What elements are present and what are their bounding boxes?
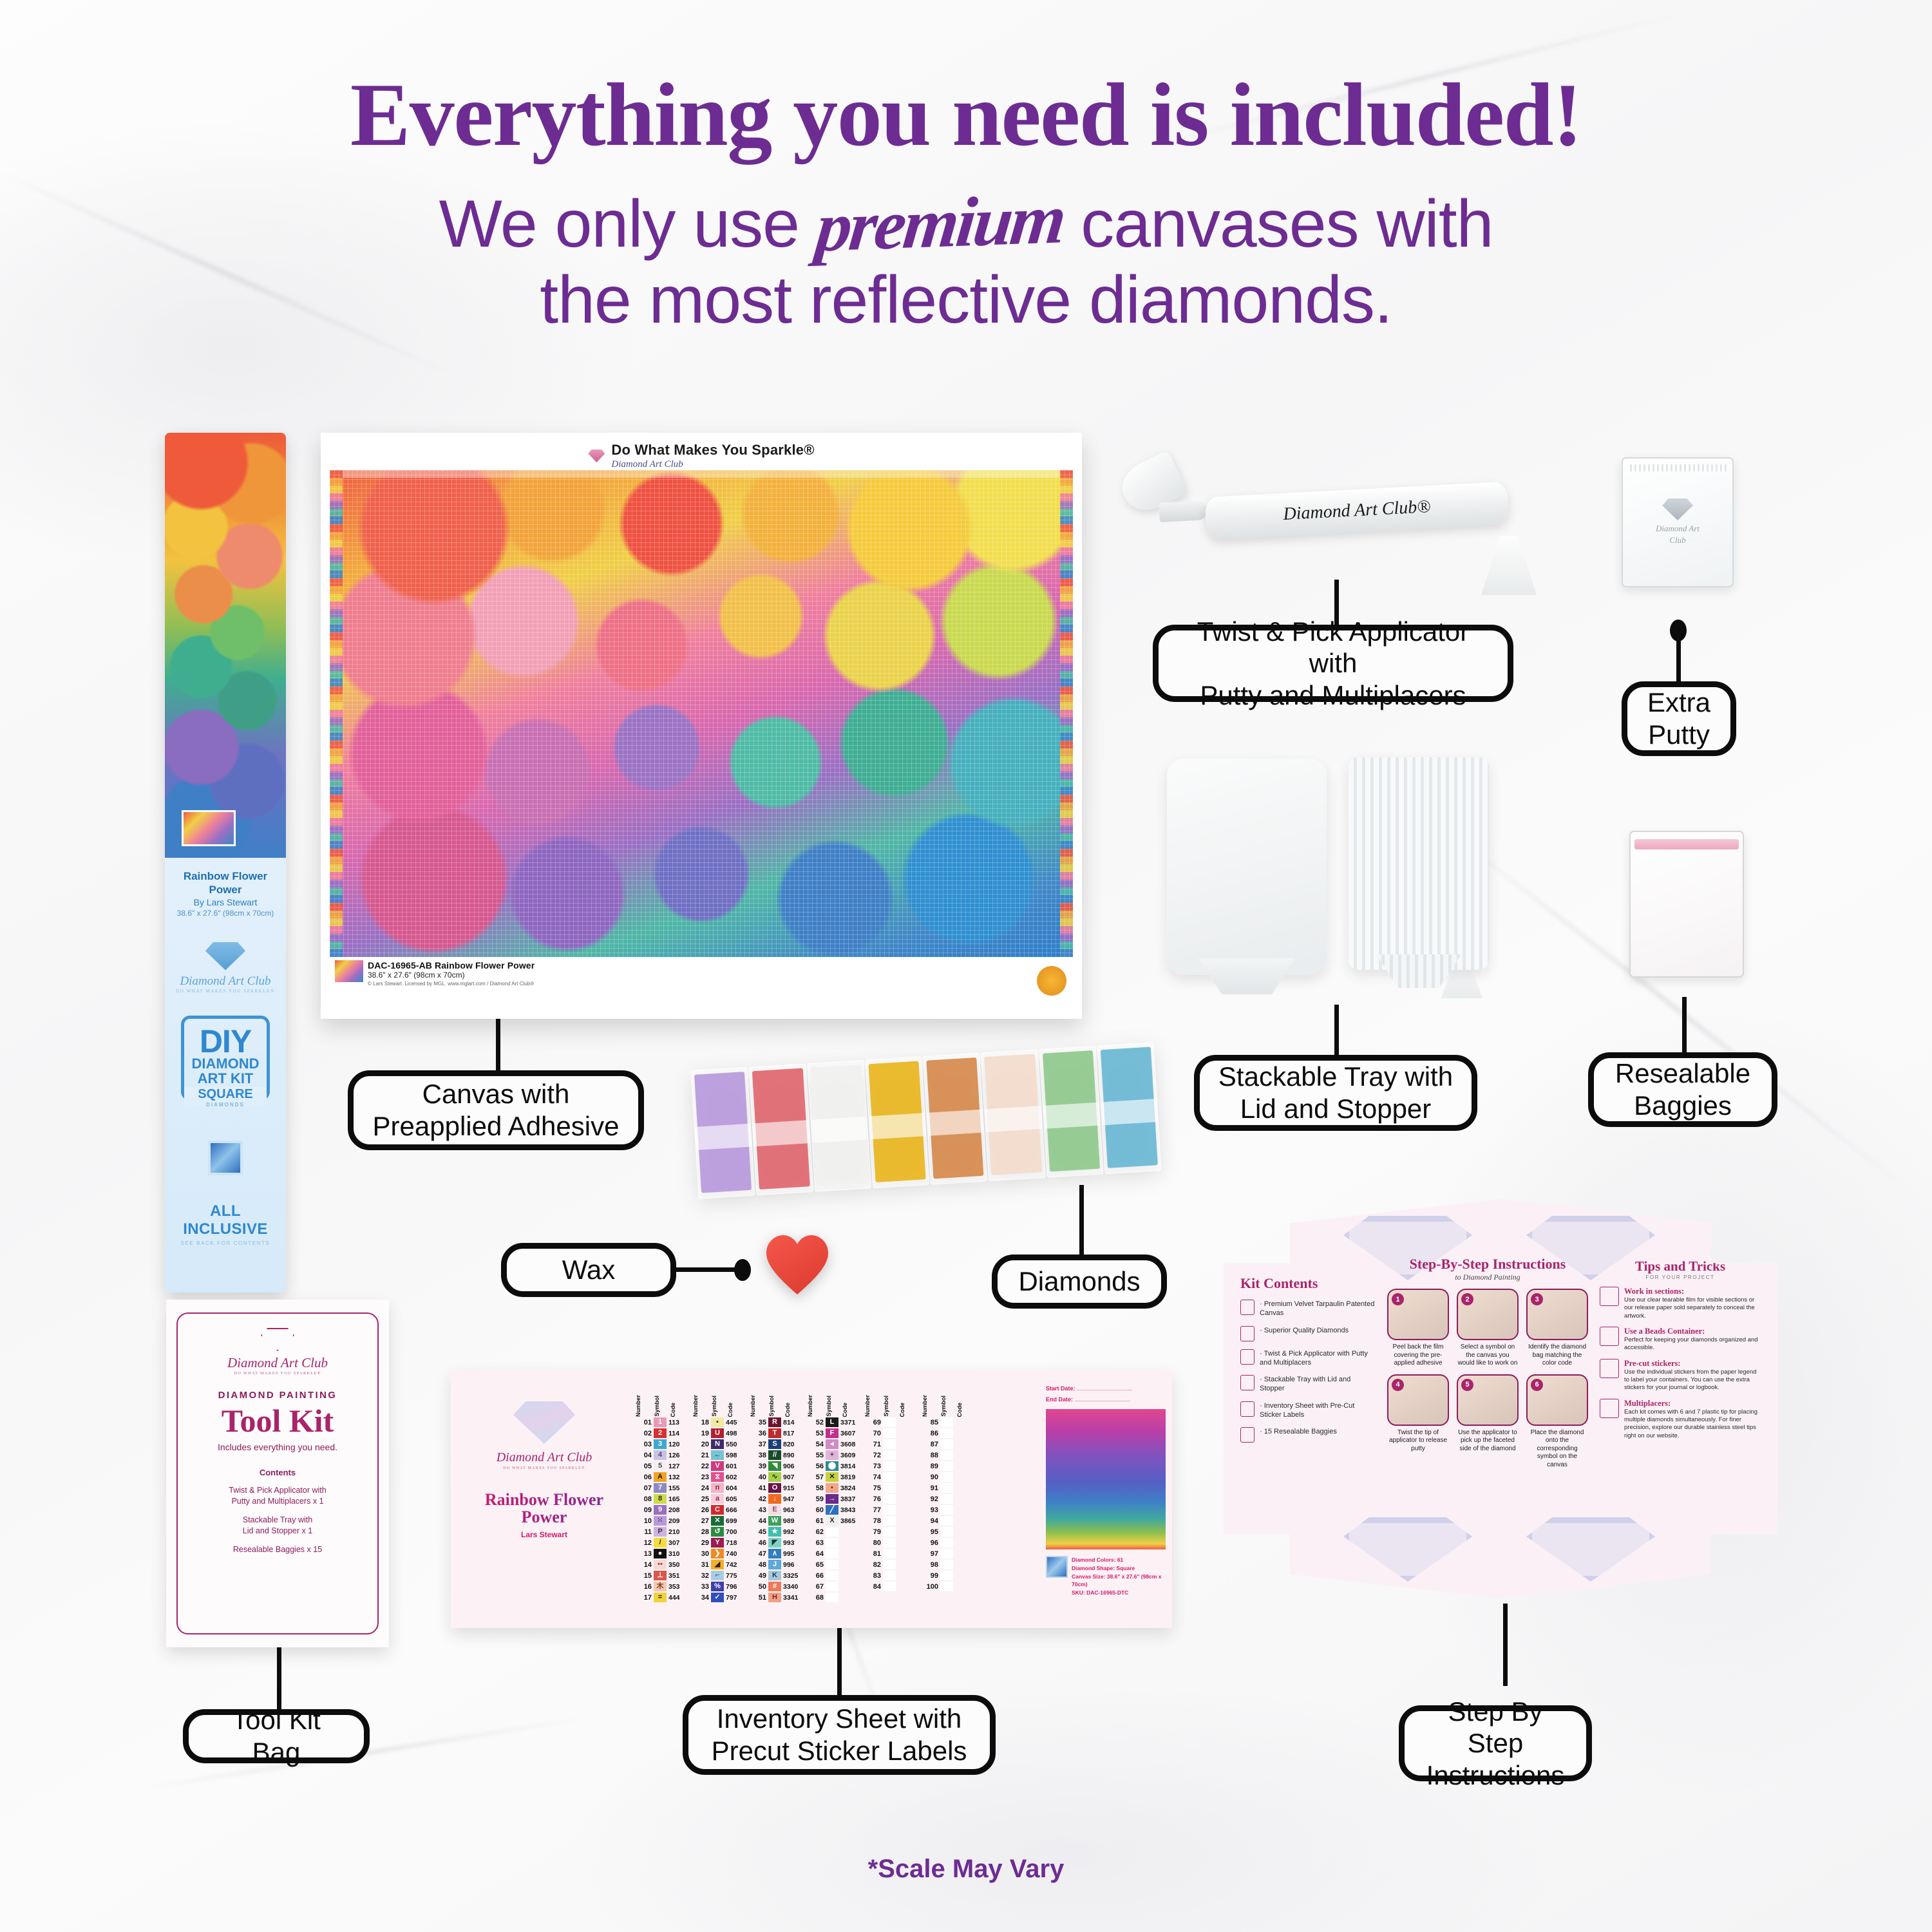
row-number: 67 (807, 1583, 824, 1591)
row-code: 351 (668, 1572, 688, 1580)
inventory-row: 90 (922, 1472, 976, 1482)
row-symbol-swatch (883, 1417, 896, 1427)
row-number: 17 (635, 1594, 652, 1602)
callout-applicator[interactable]: Twist & Pick Applicator with Putty and M… (1153, 625, 1513, 702)
row-symbol-swatch (826, 1582, 838, 1591)
inventory-row: 56⬤3814 (807, 1461, 861, 1472)
callout-wax[interactable]: Wax (501, 1243, 676, 1297)
inventory-row: 47∧995 (750, 1548, 804, 1559)
column-header-symbol: Symbol (768, 1396, 782, 1417)
inventory-title: Rainbow Flower Power (457, 1491, 631, 1526)
inventory-row: 83 (864, 1570, 918, 1581)
inventory-row: 13●310 (635, 1548, 689, 1559)
row-symbol-swatch (826, 1560, 838, 1569)
row-number: 01 (635, 1419, 652, 1426)
kit-contents-item: · Stackable Tray with Lid and Stopper (1240, 1375, 1376, 1394)
canvas-footer-label: DAC-16965-AB Rainbow Flower Power 38.6" … (330, 957, 1073, 999)
column-header-code: Code (899, 1403, 918, 1417)
callout-toolkit[interactable]: Tool Kit Bag (183, 1709, 370, 1763)
row-number: 46 (750, 1539, 766, 1547)
step-photo: 3 (1526, 1289, 1588, 1340)
inventory-meta: Diamond Colors: 61 Diamond Shape: Square… (1046, 1556, 1166, 1597)
inventory-cover: Diamond Art ClubDO WHAT MAKES YOU SPARKL… (457, 1379, 631, 1619)
diamond-label: DIAMOND (187, 1056, 264, 1071)
diamond-icon (205, 942, 245, 971)
column-header-symbol: Symbol (654, 1396, 668, 1417)
row-number: 13 (635, 1550, 652, 1558)
inventory-legend-table: NumberSymbolCode011113022114033120044126… (635, 1379, 1042, 1619)
row-code: 3865 (840, 1517, 860, 1525)
inventory-row: 12/307 (635, 1537, 689, 1548)
row-code: 3607 (840, 1430, 860, 1437)
callout-diamonds[interactable]: Diamonds (992, 1255, 1167, 1309)
row-symbol-swatch: 1 (654, 1417, 667, 1427)
inventory-row: 58▪3824 (807, 1482, 861, 1493)
row-symbol-swatch: ╱ (826, 1505, 838, 1515)
row-symbol-swatch (940, 1450, 953, 1460)
inventory-row: 53F3607 (807, 1428, 861, 1439)
inventory-row: 50#3340 (750, 1581, 804, 1592)
row-symbol-swatch: / (654, 1538, 667, 1548)
row-number: 75 (864, 1484, 881, 1492)
leader-dot-wax (734, 1259, 751, 1281)
row-code: 602 (726, 1473, 745, 1481)
row-code: 699 (726, 1517, 745, 1525)
step-caption: Identify the diamond bag matching the co… (1526, 1343, 1588, 1368)
leader-line-extra-putty (1676, 630, 1681, 681)
row-number: 100 (922, 1583, 938, 1591)
row-number: 93 (922, 1506, 938, 1514)
row-code: 310 (668, 1550, 688, 1558)
end-date-field[interactable]: End Date: (1046, 1394, 1166, 1405)
row-symbol-swatch: ❯ (711, 1549, 724, 1558)
row-code: 907 (783, 1473, 802, 1481)
inventory-row: 23⧖602 (692, 1472, 746, 1482)
row-number: 80 (864, 1539, 881, 1547)
inventory-row: 20N550 (692, 1439, 746, 1450)
inventory-row: 88 (922, 1450, 976, 1461)
row-code: 113 (668, 1419, 688, 1426)
row-code: 132 (668, 1473, 688, 1481)
inventory-column-headers: NumberSymbolCode (807, 1383, 861, 1417)
inventory-column: NumberSymbolCode011113022114033120044126… (635, 1383, 689, 1619)
tip-item: Multiplacers:Each kit comes with 6 and 7… (1600, 1399, 1761, 1440)
inventory-artist: Lars Stewart (457, 1530, 631, 1539)
row-symbol-swatch (883, 1505, 896, 1515)
row-number: 69 (864, 1419, 881, 1426)
row-number: 14 (635, 1561, 652, 1569)
row-number: 92 (922, 1495, 938, 1503)
row-symbol-swatch: % (711, 1582, 724, 1591)
square-diamond-swatch (208, 1141, 243, 1175)
row-symbol-swatch (940, 1560, 953, 1569)
column-header-number: Number (922, 1395, 938, 1417)
step-number-badge: 5 (1461, 1379, 1473, 1391)
row-symbol-swatch (940, 1461, 953, 1471)
row-number: 19 (692, 1430, 709, 1437)
kit-item-icon (1240, 1401, 1255, 1417)
row-symbol-swatch: ◤ (768, 1538, 781, 1548)
inventory-row: 40∿907 (750, 1472, 804, 1482)
tip-icon (1600, 1287, 1619, 1306)
callout-inventory[interactable]: Inventory Sheet with Precut Sticker Labe… (683, 1695, 996, 1775)
row-symbol-swatch (883, 1494, 896, 1504)
row-symbol-swatch: → (826, 1494, 838, 1504)
inventory-row: 63 (807, 1537, 861, 1548)
row-code: 550 (726, 1441, 745, 1448)
row-number: 24 (692, 1484, 709, 1492)
row-number: 38 (750, 1452, 766, 1459)
row-number: 15 (635, 1572, 652, 1580)
diamond-bag (1039, 1046, 1103, 1178)
row-number: 39 (750, 1463, 766, 1470)
steps-grid: 1Peel back the film covering the pre-app… (1387, 1289, 1588, 1469)
baggie-logo: Diamond Art Club (1651, 498, 1705, 546)
wax-heart (766, 1235, 828, 1294)
row-number: 34 (692, 1594, 709, 1602)
row-symbol-swatch (883, 1516, 896, 1526)
inventory-meta-panel: Start Date: End Date: Diamond Colors: 61… (1046, 1379, 1166, 1619)
inventory-column-headers: NumberSymbolCode (750, 1383, 804, 1417)
kit-contents-item: · Inventory Sheet with Pre-Cut Sticker L… (1240, 1401, 1376, 1420)
row-number: 83 (864, 1572, 881, 1580)
row-code: 3325 (783, 1572, 802, 1580)
inventory-row: 37S820 (750, 1439, 804, 1450)
inventory-row: 99 (922, 1570, 976, 1581)
row-number: 94 (922, 1517, 938, 1525)
steps-column: Step-By-Step Instructions to Diamond Pai… (1387, 1256, 1588, 1542)
row-symbol-swatch: ↺ (711, 1527, 724, 1537)
all-inclusive-sublabel: SEE BACK FOR CONTENTS (171, 1240, 279, 1246)
row-number: 86 (922, 1430, 938, 1437)
step-caption: Use the applicator to pick up the facete… (1457, 1429, 1519, 1454)
inventory-row: 76 (864, 1493, 918, 1504)
inventory-row: 055127 (635, 1461, 689, 1472)
row-symbol-swatch: = (654, 1593, 667, 1602)
row-code: 3837 (840, 1495, 860, 1503)
row-number: 20 (692, 1441, 709, 1448)
row-symbol-swatch: N (711, 1439, 724, 1449)
kit-item-label: · 15 Resealable Baggies (1260, 1427, 1337, 1436)
instruction-step: 5Use the applicator to pick up the facet… (1457, 1374, 1519, 1470)
inventory-row: 69 (864, 1417, 918, 1428)
row-symbol-swatch: O (768, 1483, 781, 1493)
inventory-row: 17=444 (635, 1592, 689, 1603)
inventory-row: 71 (864, 1439, 918, 1450)
row-symbol-swatch: ∧ (768, 1549, 781, 1558)
footer-note: *Scale May Vary (0, 1855, 1932, 1884)
inventory-row: 91 (922, 1482, 976, 1493)
inventory-row: 36T817 (750, 1428, 804, 1439)
callout-baggies[interactable]: Resealable Baggies (1588, 1052, 1777, 1127)
inventory-row: 93 (922, 1504, 976, 1515)
tool-kit-contents-heading: Contents (187, 1468, 368, 1477)
row-number: 58 (807, 1484, 824, 1492)
row-number: 07 (635, 1484, 652, 1492)
row-number: 74 (864, 1473, 881, 1481)
inventory-row: 099208 (635, 1504, 689, 1515)
row-code: 604 (726, 1484, 745, 1492)
kit-item-label: · Premium Velvet Tarpaulin Patented Canv… (1260, 1300, 1376, 1318)
row-code: 498 (726, 1430, 745, 1437)
inventory-row: 044126 (635, 1450, 689, 1461)
row-symbol-swatch: T (768, 1428, 781, 1438)
instructions-title: Step-By-Step Instructions (1387, 1256, 1588, 1273)
inventory-row: 87 (922, 1439, 976, 1450)
tip-item: Work in sections:Use our clear tearable … (1600, 1287, 1761, 1320)
shape-label: SQUAREDIAMONDS (184, 1087, 267, 1108)
leader-line-wax (676, 1267, 738, 1272)
callout-canvas[interactable]: Canvas with Preapplied Adhesive (348, 1070, 644, 1150)
row-code: 817 (783, 1430, 802, 1437)
subtitle-part-1: We only use (439, 187, 817, 261)
diy-label: DIY (187, 1027, 264, 1056)
row-symbol-swatch: F (826, 1428, 838, 1438)
row-symbol-swatch: P (654, 1527, 667, 1537)
stackable-tray (1167, 759, 1327, 975)
row-number: 55 (807, 1452, 824, 1459)
row-code: 3608 (840, 1441, 860, 1448)
row-code: 995 (783, 1550, 802, 1558)
tip-item: Pre-cut stickers:Use the individual stic… (1600, 1359, 1761, 1392)
row-code: 350 (668, 1561, 688, 1569)
row-number: 27 (692, 1517, 709, 1525)
inventory-column: NumberSymbolCode858687888990919293949596… (922, 1383, 976, 1619)
row-number: 26 (692, 1506, 709, 1514)
inventory-artwork-preview (1046, 1409, 1166, 1549)
kit-contents-list: · Premium Velvet Tarpaulin Patented Canv… (1240, 1300, 1376, 1443)
row-symbol-swatch (940, 1494, 953, 1504)
inventory-column-headers: NumberSymbolCode (635, 1383, 689, 1417)
row-code: 307 (668, 1539, 688, 1547)
row-symbol-swatch: 2 (654, 1428, 667, 1438)
row-code: 3819 (840, 1473, 860, 1481)
page-subtitle: We only use premium canvases with the mo… (0, 184, 1932, 338)
canvas-size-line: 38.6" x 27.6" (98cm x 70cm) (368, 971, 535, 980)
row-symbol-swatch: // (768, 1450, 781, 1460)
leader-line-baggies (1682, 997, 1687, 1052)
kit-item-icon (1240, 1326, 1255, 1341)
start-date-field[interactable]: Start Date: (1046, 1383, 1166, 1394)
inventory-row: 44W989 (750, 1515, 804, 1526)
row-code: 775 (726, 1572, 745, 1580)
inventory-row: 65 (807, 1559, 861, 1570)
inventory-row: 16木353 (635, 1581, 689, 1592)
inventory-row: 29Y718 (692, 1537, 746, 1548)
inventory-row: 75 (864, 1482, 918, 1493)
row-symbol-swatch: W (768, 1516, 781, 1526)
diamond-icon (588, 450, 605, 462)
row-symbol-swatch: ⊥ (654, 1571, 667, 1580)
inventory-row: 077155 (635, 1482, 689, 1493)
tip-title: Multiplacers: (1624, 1399, 1761, 1408)
inventory-row: 82 (864, 1559, 918, 1570)
row-symbol-swatch: ⁙ (654, 1516, 667, 1526)
subtitle-emphasis: premium (813, 179, 1068, 267)
row-number: 44 (750, 1517, 766, 1525)
row-code: 127 (668, 1463, 688, 1470)
tool-kit-brand: Diamond Art ClubDO WHAT MAKES YOU SPARKL… (187, 1355, 368, 1376)
instruction-step: 3Identify the diamond bag matching the c… (1526, 1289, 1588, 1368)
row-code: 445 (726, 1419, 745, 1426)
subtitle-part-2: canvases with (1063, 187, 1493, 261)
meta-canvas-size: Canvas Size: 38.6" x 27.6" (98cm x 70cm) (1072, 1573, 1166, 1589)
meta-sku: SKU: DAC-16965-DTC (1072, 1589, 1166, 1597)
column-header-number: Number (807, 1395, 824, 1417)
row-number: 33 (692, 1583, 709, 1591)
column-header-code: Code (842, 1403, 861, 1417)
row-symbol-swatch: H (768, 1593, 781, 1602)
column-header-symbol: Symbol (883, 1396, 897, 1417)
inventory-row: 51H3341 (750, 1592, 804, 1603)
inventory-row: 79 (864, 1526, 918, 1537)
row-symbol-swatch: + (826, 1450, 838, 1460)
row-number: 23 (692, 1473, 709, 1481)
inventory-row: 54◂3608 (807, 1439, 861, 1450)
step-photo: 4 (1387, 1374, 1449, 1426)
callout-instructions[interactable]: Step By Step Instructions (1399, 1705, 1592, 1781)
tip-title: Work in sections: (1624, 1287, 1761, 1296)
resealable-baggies (1629, 831, 1744, 978)
column-header-symbol: Symbol (711, 1396, 725, 1417)
inventory-sheet: Diamond Art ClubDO WHAT MAKES YOU SPARKL… (451, 1370, 1172, 1628)
callout-tray[interactable]: Stackable Tray with Lid and Stopper (1194, 1055, 1477, 1131)
row-number: 71 (864, 1441, 881, 1448)
inventory-row: 033120 (635, 1439, 689, 1450)
inventory-row: 46◤993 (750, 1537, 804, 1548)
row-number: 64 (807, 1550, 824, 1558)
inventory-row: 19U498 (692, 1428, 746, 1439)
row-number: 97 (922, 1550, 938, 1558)
row-number: 45 (750, 1528, 766, 1536)
row-symbol-swatch: п (711, 1483, 724, 1493)
row-number: 79 (864, 1528, 881, 1536)
inventory-row: 61X3865 (807, 1515, 861, 1526)
row-number: 02 (635, 1430, 652, 1437)
inventory-row: 86 (922, 1428, 976, 1439)
diamond-icon (513, 1401, 575, 1444)
page-title: Everything you need is included! (0, 70, 1932, 162)
tip-body: Use the individual stickers from the pap… (1624, 1368, 1761, 1392)
row-symbol-swatch: ∿ (768, 1472, 781, 1482)
row-symbol-swatch (883, 1450, 896, 1460)
callout-extra-putty[interactable]: Extra Putty (1622, 681, 1736, 756)
inventory-row: 27✕699 (692, 1515, 746, 1526)
kit-item-label: · Twist & Pick Applicator with Putty and… (1260, 1349, 1376, 1368)
row-code: 126 (668, 1452, 688, 1459)
instructions-subtitle: to Diamond Painting (1387, 1273, 1588, 1282)
inventory-row: 42↓947 (750, 1493, 804, 1504)
row-code: 963 (783, 1506, 802, 1514)
tool-kit-panel: Diamond Art ClubDO WHAT MAKES YOU SPARKL… (176, 1312, 379, 1634)
row-symbol-swatch: ▪ (711, 1417, 724, 1427)
inventory-row: 28↺700 (692, 1526, 746, 1537)
row-symbol-swatch: # (768, 1582, 781, 1591)
row-number: 76 (864, 1495, 881, 1503)
row-number: 48 (750, 1561, 766, 1569)
row-code: 742 (726, 1561, 745, 1569)
row-symbol-swatch (883, 1428, 896, 1438)
row-symbol-swatch (940, 1417, 953, 1427)
row-code: 598 (726, 1452, 745, 1459)
row-number: 47 (750, 1550, 766, 1558)
row-number: 99 (922, 1572, 938, 1580)
canvas-header: Do What Makes You Sparkle® Diamond Art C… (330, 442, 1073, 470)
row-number: 29 (692, 1539, 709, 1547)
canvas-tagline: Do What Makes You Sparkle® (611, 442, 814, 458)
row-symbol-swatch: ✕ (826, 1472, 838, 1482)
tube-artist: By Lars Stewart (171, 897, 279, 907)
row-code: 700 (726, 1528, 745, 1536)
row-symbol-swatch: X (826, 1516, 838, 1526)
row-code: 210 (668, 1528, 688, 1536)
kit-item-icon (1240, 1427, 1255, 1443)
row-number: 41 (750, 1484, 766, 1492)
row-code: 353 (668, 1583, 688, 1591)
row-symbol-swatch (940, 1527, 953, 1537)
row-number: 03 (635, 1441, 652, 1448)
baggie-zip (1627, 464, 1728, 471)
row-code: 601 (726, 1463, 745, 1470)
row-symbol-swatch: 4 (654, 1450, 667, 1460)
row-number: 62 (807, 1528, 824, 1536)
kit-contents-heading: Kit Contents (1240, 1275, 1376, 1292)
inventory-row: 30❯740 (692, 1548, 746, 1559)
instructions-body: Kit Contents · Premium Velvet Tarpaulin … (1224, 1256, 1777, 1542)
row-number: 96 (922, 1539, 938, 1547)
baggie-brand: Diamond Art Club (1656, 524, 1700, 545)
row-symbol-swatch (883, 1571, 896, 1580)
inventory-row: 78 (864, 1515, 918, 1526)
product-canvas: Do What Makes You Sparkle® Diamond Art C… (321, 433, 1082, 1019)
row-symbol-swatch (940, 1571, 953, 1580)
row-number: 88 (922, 1452, 938, 1459)
step-number-badge: 2 (1461, 1293, 1473, 1305)
diamond-bags-strip (691, 1042, 1162, 1199)
column-header-number: Number (635, 1395, 652, 1417)
row-number: 91 (922, 1484, 938, 1492)
row-number: 60 (807, 1506, 824, 1514)
row-symbol-swatch: K (768, 1571, 781, 1580)
row-code: 3609 (840, 1452, 860, 1459)
inventory-row: 52L3371 (807, 1417, 861, 1428)
row-number: 36 (750, 1430, 766, 1437)
row-code: 165 (668, 1495, 688, 1503)
tip-body: Use our clear tearable film for visible … (1624, 1296, 1761, 1320)
column-header-number: Number (864, 1395, 881, 1417)
tube-brand: Diamond Art ClubDO WHAT MAKES YOU SPARKL… (171, 974, 279, 994)
row-symbol-swatch: ✕ (711, 1516, 724, 1526)
row-code: 993 (783, 1539, 802, 1547)
row-number: 89 (922, 1463, 938, 1470)
inventory-row: 89 (922, 1461, 976, 1472)
kit-contents-item: · Superior Quality Diamonds (1240, 1326, 1376, 1341)
column-header-symbol: Symbol (940, 1396, 954, 1417)
step-number-badge: 3 (1531, 1293, 1543, 1305)
inventory-row: 49K3325 (750, 1570, 804, 1581)
row-number: 77 (864, 1506, 881, 1514)
diamond-bag (981, 1049, 1045, 1181)
row-code: 820 (783, 1441, 802, 1448)
row-number: 61 (807, 1517, 824, 1525)
tip-title: Pre-cut stickers: (1624, 1359, 1761, 1368)
row-number: 54 (807, 1441, 824, 1448)
row-symbol-swatch: ● (654, 1549, 667, 1558)
inventory-row: 45★992 (750, 1526, 804, 1537)
row-number: 85 (922, 1419, 938, 1426)
row-number: 57 (807, 1473, 824, 1481)
step-photo: 5 (1457, 1374, 1519, 1426)
